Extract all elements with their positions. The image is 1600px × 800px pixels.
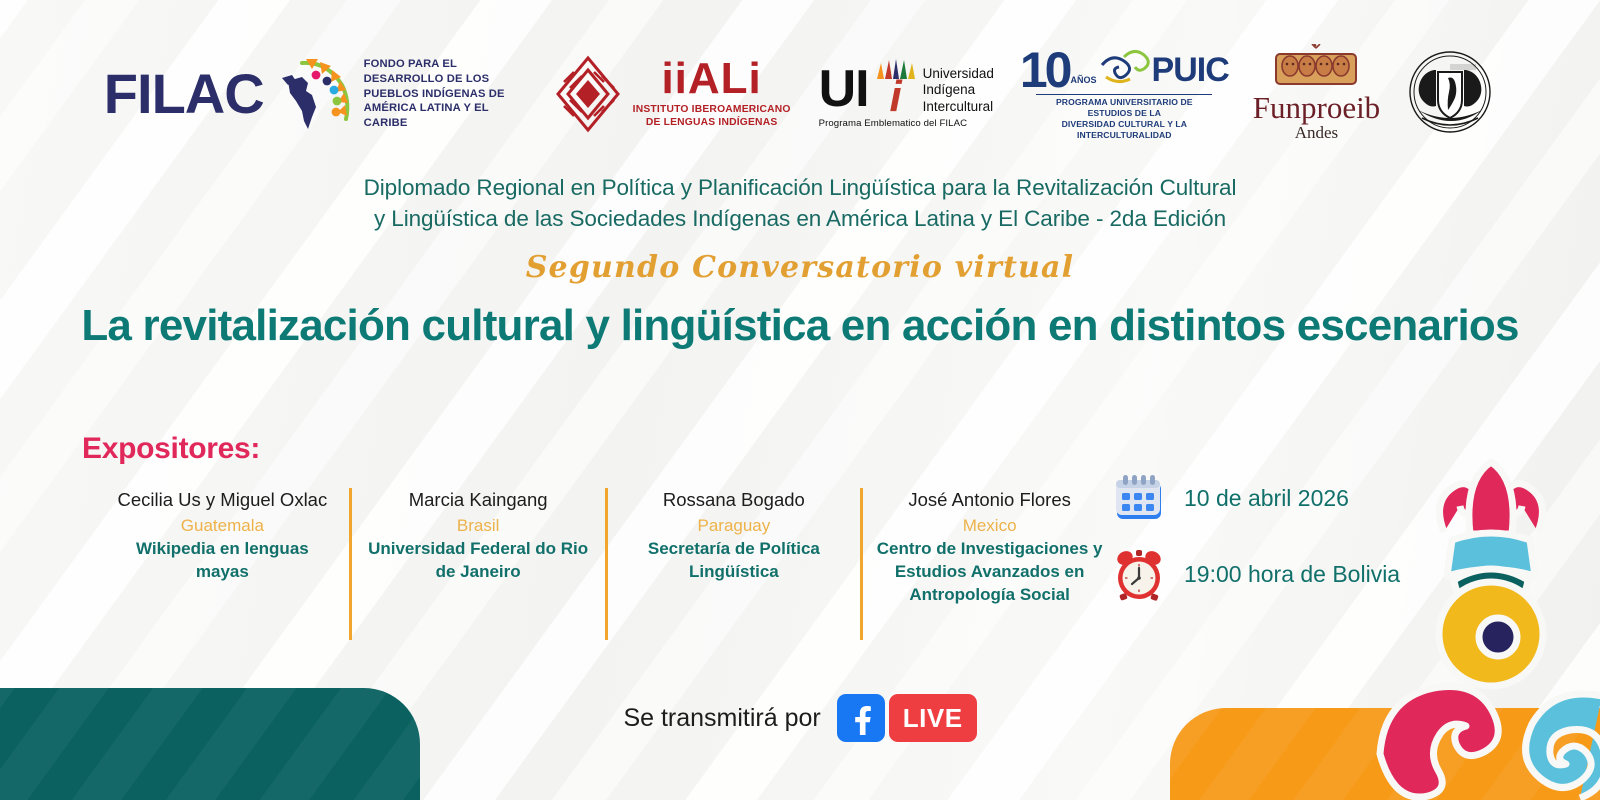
iiali-wordmark: iiALi — [661, 58, 761, 100]
funproeib-wordmark: Funproeib — [1253, 92, 1380, 123]
filac-subtitle: FONDO PARA EL DESARROLLO DE LOS PUEBLOS … — [364, 57, 524, 131]
logo-iiali: iiALi INSTITUTO IBEROAMERICANO DE LENGUA… — [538, 54, 805, 134]
uii-accent-letter: i — [889, 79, 901, 115]
funproeib-faces-icon — [1270, 44, 1362, 92]
uii-line3: Intercultural — [923, 99, 994, 115]
iiali-subtitle-line1: INSTITUTO IBEROAMERICANO — [633, 103, 791, 116]
uii-line1: Universidad — [923, 66, 994, 82]
filac-wordmark: FILAC — [104, 66, 264, 122]
broadcast-label: Se transmitirá por — [623, 704, 820, 733]
program-subtitle-line2: y Lingüística de las Sociedades Indígena… — [0, 203, 1600, 234]
puic-subtitle: PROGRAMA UNIVERSITARIO DE ESTUDIOS DE LA… — [1036, 94, 1212, 141]
logo-filac: FILAC FONDO PARA EL DESA — [104, 55, 538, 133]
speaker-card: Cecilia Us y Miguel Oxlac Guatemala Wiki… — [96, 488, 349, 584]
logo-uii: UI i — [805, 59, 1008, 129]
speakers-label: Expositores: — [82, 432, 260, 466]
puic-subtitle-line2: DIVERSIDAD CULTURAL Y LA INTERCULTURALID… — [1036, 119, 1212, 141]
calendar-icon — [1112, 471, 1166, 525]
puic-wordmark: PUIC — [1152, 51, 1229, 90]
puic-years-label: AÑOS — [1071, 75, 1097, 85]
facebook-icon[interactable] — [837, 694, 885, 742]
puic-anniversary-number: 10 — [1020, 48, 1070, 93]
live-label[interactable]: LIVE — [889, 694, 977, 742]
speaker-organization: Secretaría de Política Lingüística — [620, 538, 849, 584]
iiali-subtitle: INSTITUTO IBEROAMERICANO DE LENGUAS INDÍ… — [633, 103, 791, 130]
speaker-organization: Wikipedia en lenguas mayas — [108, 538, 337, 584]
filac-map-fan-icon — [272, 55, 356, 133]
logo-funproeib: Funproeib Andes — [1241, 44, 1392, 143]
iiali-subtitle-line2: DE LENGUAS INDÍGENAS — [633, 116, 791, 129]
event-flyer: FILAC FONDO PARA EL DESA — [0, 0, 1600, 800]
sponsor-logo-bar: FILAC FONDO PARA EL DESA — [0, 38, 1600, 150]
puic-subtitle-line1: PROGRAMA UNIVERSITARIO DE ESTUDIOS DE LA — [1036, 97, 1212, 119]
event-kicker: Segundo Conversatorio virtual — [0, 250, 1600, 285]
uii-mark: UI — [819, 63, 869, 115]
speaker-name: Rossana Bogado — [620, 488, 849, 513]
funproeib-subtitle: Andes — [1295, 123, 1338, 143]
page-title: La revitalización cultural y lingüística… — [70, 300, 1530, 352]
aztec-glyph-ornament — [1366, 424, 1600, 800]
iiali-diamond-textile-icon — [552, 54, 624, 134]
program-subtitle: Diplomado Regional en Política y Planifi… — [0, 172, 1600, 234]
logo-puic: 10 AÑOS PUIC PROGRAMA UNIVERSITARIO DE E… — [1008, 47, 1241, 141]
event-date: 10 de abril 2026 — [1184, 485, 1349, 512]
speaker-card: Marcia Kaingang Brasil Universidad Feder… — [349, 488, 605, 640]
speaker-country: Guatemala — [108, 513, 337, 539]
facebook-f-glyph — [844, 701, 878, 735]
speaker-name: Cecilia Us y Miguel Oxlac — [108, 488, 337, 513]
speaker-card: Rossana Bogado Paraguay Secretaría de Po… — [605, 488, 861, 640]
speaker-country: Paraguay — [620, 513, 849, 539]
speaker-name: Marcia Kaingang — [364, 488, 593, 513]
speaker-name: José Antonio Flores — [875, 488, 1104, 513]
alarm-clock-icon — [1112, 547, 1166, 601]
broadcast-block: Se transmitirá por LIVE — [0, 694, 1600, 742]
speaker-card: José Antonio Flores Mexico Centro de Inv… — [860, 488, 1116, 640]
speaker-organization: Universidad Federal do Rio de Janeiro — [364, 538, 593, 584]
unam-shield-eagle-icon — [1404, 48, 1496, 140]
logo-unam — [1392, 48, 1496, 140]
program-subtitle-line1: Diplomado Regional en Política y Planifi… — [0, 172, 1600, 203]
speaker-country: Brasil — [364, 513, 593, 539]
facebook-live-badge[interactable]: LIVE — [837, 694, 977, 742]
speaker-organization: Centro de Investigaciones y Estudios Ava… — [875, 538, 1104, 607]
speaker-country: Mexico — [875, 513, 1104, 539]
uii-line2: Indígena — [923, 82, 994, 98]
speakers-list: Cecilia Us y Miguel Oxlac Guatemala Wiki… — [96, 488, 1116, 640]
puic-swirl-icon — [1098, 47, 1152, 93]
uii-name-lines: Universidad Indígena Intercultural — [923, 66, 994, 115]
